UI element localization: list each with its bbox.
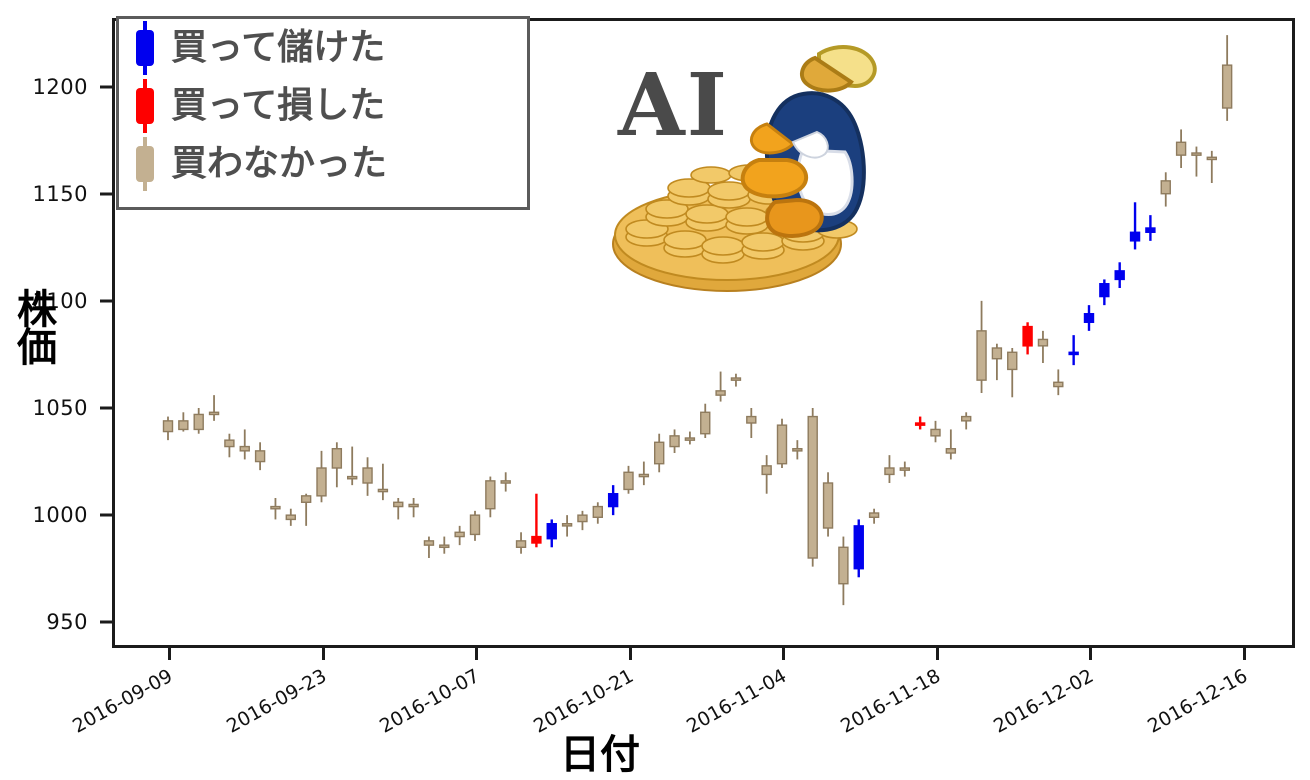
y-tick-mark (100, 621, 112, 624)
x-tick-mark (168, 648, 171, 660)
legend-label-profit: 買って儲けた (171, 30, 385, 66)
x-tick-label: 2016-11-18 (837, 665, 944, 738)
y-tick-mark (100, 407, 112, 410)
legend-item-profit[interactable]: 買って儲けた (119, 19, 527, 77)
y-tick-label: 1050 (33, 396, 88, 420)
legend-label-loss: 買って損した (171, 88, 385, 124)
y-tick-label: 1000 (33, 503, 88, 527)
y-tick-label: 950 (46, 610, 88, 634)
legend: 買って儲けた 買って損した 買わなかった (116, 16, 530, 210)
y-tick-mark (100, 85, 112, 88)
y-tick-label: 1200 (33, 75, 88, 99)
legend-item-loss[interactable]: 買って損した (119, 77, 527, 135)
x-tick-mark (936, 648, 939, 660)
x-axis-title: 日付 (560, 722, 640, 780)
x-tick-mark (629, 648, 632, 660)
y-tick-mark (100, 192, 112, 195)
y-tick-mark (100, 299, 112, 302)
x-tick-label: 2016-09-09 (69, 665, 176, 738)
x-tick-label: 2016-10-07 (376, 665, 483, 738)
ai-annotation-text: AI (618, 55, 729, 156)
legend-item-nobuy[interactable]: 買わなかった (119, 135, 527, 193)
x-tick-mark (1089, 648, 1092, 660)
y-axis-title: 株価 (6, 291, 68, 368)
x-tick-label: 2016-12-02 (990, 665, 1097, 738)
x-tick-mark (782, 648, 785, 660)
candlestick-chart: 95010001050110011501200 2016-09-092016-0… (0, 0, 1310, 772)
legend-label-nobuy: 買わなかった (171, 146, 387, 182)
x-tick-mark (1243, 648, 1246, 660)
y-tick-label: 1150 (33, 182, 88, 206)
legend-marker-loss-icon (119, 77, 171, 135)
x-tick-mark (322, 648, 325, 660)
x-tick-label: 2016-11-04 (683, 665, 790, 738)
legend-marker-profit-icon (119, 19, 171, 77)
y-tick-mark (100, 514, 112, 517)
x-tick-label: 2016-12-16 (1144, 665, 1251, 738)
legend-marker-nobuy-icon (119, 135, 171, 193)
x-tick-label: 2016-09-23 (223, 665, 330, 738)
x-tick-mark (475, 648, 478, 660)
